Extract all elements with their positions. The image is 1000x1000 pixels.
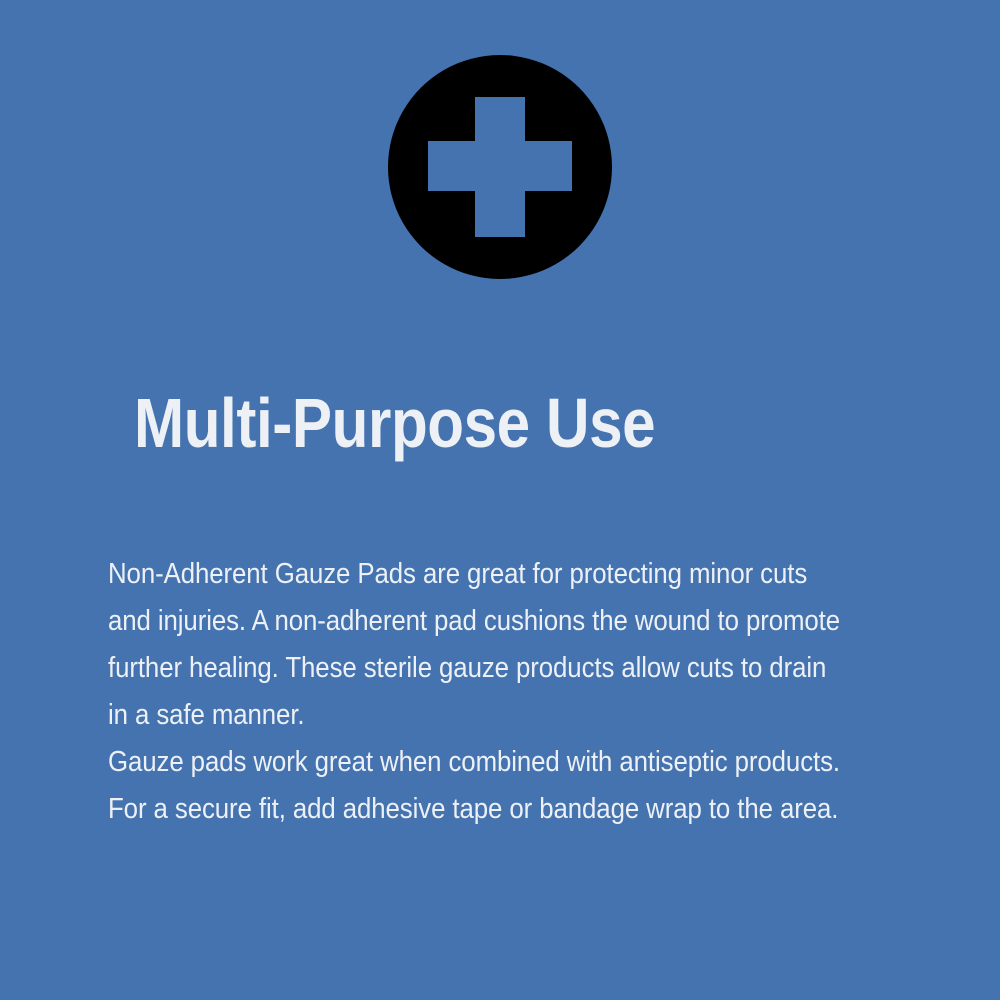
- page-title: Multi-Purpose Use: [134, 386, 822, 460]
- paragraph-line: further healing. These sterile gauze pro…: [108, 645, 945, 692]
- paragraph-line: For a secure fit, add adhesive tape or b…: [108, 786, 945, 833]
- product-feature-card: Multi-Purpose Use Non-Adherent Gauze Pad…: [0, 0, 1000, 1000]
- paragraph-line: and injuries. A non-adherent pad cushion…: [108, 598, 945, 645]
- medical-cross-circle-icon: [388, 55, 612, 279]
- paragraph-line: Gauze pads work great when combined with…: [108, 739, 945, 786]
- paragraph: Non-Adherent Gauze Pads are great for pr…: [108, 551, 945, 739]
- paragraph-line: in a safe manner.: [108, 692, 945, 739]
- description-block: Non-Adherent Gauze Pads are great for pr…: [108, 551, 1000, 833]
- paragraph: Gauze pads work great when combined with…: [108, 739, 945, 833]
- paragraph-line: Non-Adherent Gauze Pads are great for pr…: [108, 551, 945, 598]
